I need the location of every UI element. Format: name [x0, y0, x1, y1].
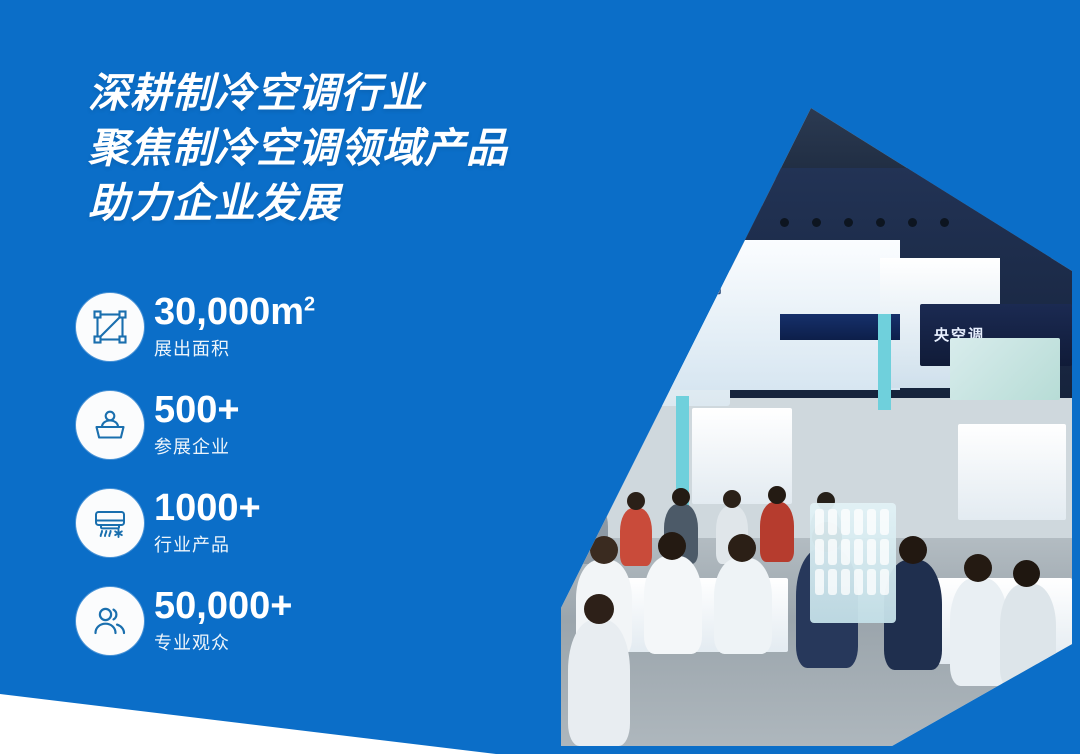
stat-item-visitors: 50,000+ 专业观众	[76, 587, 456, 685]
stat-item-area: 30,000m2 展出面积	[76, 293, 456, 391]
stat-value-visitors: 50,000+	[154, 583, 292, 629]
headline-line-1: 深耕制冷空调行业	[88, 66, 648, 121]
photo-product-display-1	[950, 338, 1060, 400]
headline-line-3: 助力企业发展	[88, 176, 648, 231]
stat-item-exhibitors: 500+ 参展企业	[76, 391, 456, 489]
stat-label-exhibitors: 参展企业	[154, 434, 240, 460]
area-measure-icon	[76, 293, 144, 361]
stat-value-products: 1000+	[154, 485, 261, 531]
poster-canvas: 央空调 公司	[0, 0, 1080, 754]
stat-body-products: 1000+ 行业产品	[154, 485, 261, 558]
headline-line-2: 聚焦制冷空调领域产品	[88, 121, 648, 176]
stat-value-area: 30,000m2	[154, 289, 315, 335]
headline: 深耕制冷空调行业 聚焦制冷空调领域产品 助力企业发展	[88, 66, 648, 231]
photo-water-bottles	[810, 503, 896, 623]
stat-value-exhibitors: 500+	[154, 387, 240, 433]
stat-label-area: 展出面积	[154, 336, 315, 362]
stat-body-visitors: 50,000+ 专业观众	[154, 583, 292, 656]
photo-teal-column-3	[878, 314, 891, 410]
exhibitor-booth-icon	[76, 391, 144, 459]
stat-body-exhibitors: 500+ 参展企业	[154, 387, 240, 460]
photo-counter-3	[958, 424, 1066, 520]
air-conditioner-icon	[76, 489, 144, 557]
stat-label-visitors: 专业观众	[154, 630, 292, 656]
stat-item-products: 1000+ 行业产品	[76, 489, 456, 587]
stats-list: 30,000m2 展出面积 500+ 参展企业	[76, 293, 456, 685]
stat-body-area: 30,000m2 展出面积	[154, 289, 315, 362]
audience-people-icon	[76, 587, 144, 655]
stat-label-products: 行业产品	[154, 532, 261, 558]
